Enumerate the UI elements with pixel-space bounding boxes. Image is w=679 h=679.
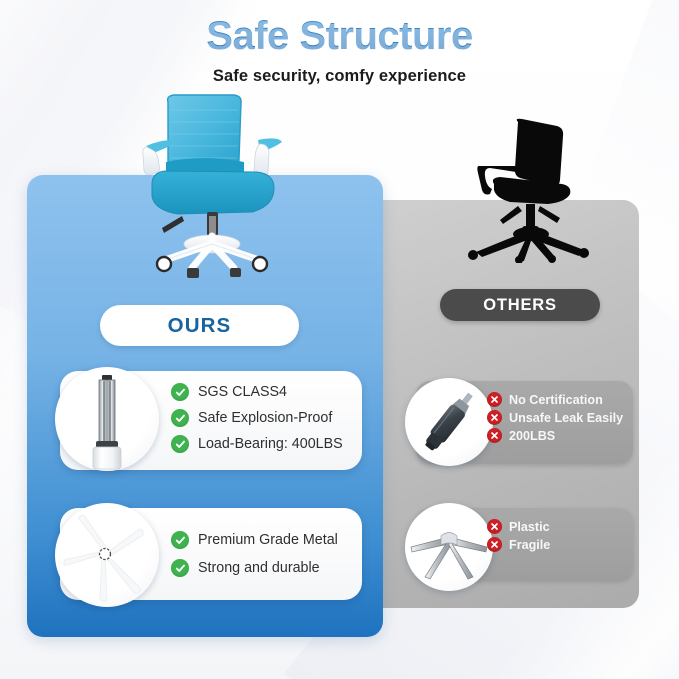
- ours-feature-list-2: Premium Grade Metal Strong and durable: [171, 531, 338, 577]
- feature-label: Unsafe Leak Easily: [509, 411, 623, 425]
- feature-label: Strong and durable: [198, 560, 320, 576]
- header: Safe Structure Safe security, comfy expe…: [0, 0, 679, 86]
- check-icon: [171, 559, 189, 577]
- gas-cylinder-ours-image: [55, 367, 159, 471]
- check-icon: [171, 383, 189, 401]
- feature-label: No Certification: [509, 393, 603, 407]
- cross-icon: [487, 428, 502, 443]
- gas-cylinder-others-image: [405, 378, 493, 466]
- ours-badge[interactable]: OURS: [100, 305, 299, 346]
- feature-item: Unsafe Leak Easily: [487, 410, 623, 425]
- feature-item: 200LBS: [487, 428, 623, 443]
- feature-item: Load-Bearing: 400LBS: [171, 435, 343, 453]
- feature-label: Safe Explosion-Proof: [198, 410, 332, 426]
- feature-item: Premium Grade Metal: [171, 531, 338, 549]
- others-badge-label: OTHERS: [483, 296, 557, 315]
- others-badge[interactable]: OTHERS: [440, 289, 600, 321]
- ours-chair-image: [122, 92, 302, 280]
- page-title: Safe Structure: [0, 0, 679, 59]
- feature-item: Strong and durable: [171, 559, 338, 577]
- five-star-base-others-image: [405, 503, 493, 591]
- infographic-canvas: Safe Structure Safe security, comfy expe…: [0, 0, 679, 679]
- cross-icon: [487, 537, 502, 552]
- feature-item: Safe Explosion-Proof: [171, 409, 343, 427]
- ours-badge-label: OURS: [168, 314, 232, 338]
- feature-label: Load-Bearing: 400LBS: [198, 436, 343, 452]
- feature-item: Fragile: [487, 537, 550, 552]
- feature-item: SGS CLASS4: [171, 383, 343, 401]
- cross-icon: [487, 519, 502, 534]
- others-feature-list-2: Plastic Fragile: [487, 519, 550, 552]
- cross-icon: [487, 392, 502, 407]
- feature-item: No Certification: [487, 392, 623, 407]
- others-feature-list-1: No Certification Unsafe Leak Easily 200L…: [487, 392, 623, 443]
- feature-label: Premium Grade Metal: [198, 532, 338, 548]
- feature-label: Plastic: [509, 520, 550, 534]
- check-icon: [171, 531, 189, 549]
- feature-item: Plastic: [487, 519, 550, 534]
- others-chair-image: [456, 118, 606, 263]
- cross-icon: [487, 410, 502, 425]
- feature-label: SGS CLASS4: [198, 384, 287, 400]
- feature-label: Fragile: [509, 538, 550, 552]
- check-icon: [171, 409, 189, 427]
- feature-label: 200LBS: [509, 429, 555, 443]
- check-icon: [171, 435, 189, 453]
- ours-feature-list-1: SGS CLASS4 Safe Explosion-Proof Load-Bea…: [171, 383, 343, 453]
- five-star-base-ours-image: [55, 503, 159, 607]
- page-subtitle: Safe security, comfy experience: [0, 67, 679, 86]
